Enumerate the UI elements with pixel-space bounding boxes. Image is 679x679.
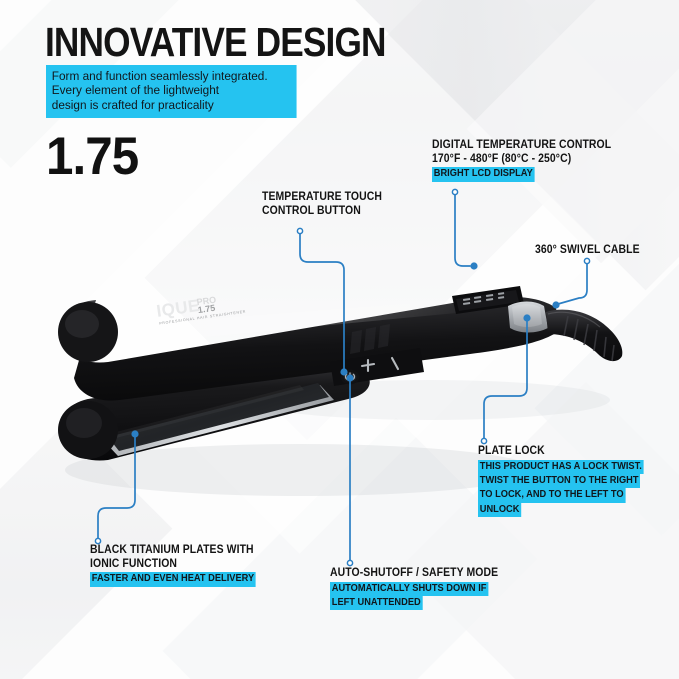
swivel-cord [546,310,622,361]
callout-plate-lock-highlight-3: TO LOCK, AND TO THE LEFT TO [478,488,625,502]
product-upper-arm: IQUE PRO 1.75 PROFESSIONAL HAIR STRAIGHT… [58,286,622,401]
plate-size-number: 1.75 [46,130,138,184]
subtitle-line-2: Every element of the lightweight [52,83,291,97]
page-title: INNOVATIVE DESIGN [45,21,386,63]
infographic-canvas: IQUE PRO 1.75 PROFESSIONAL HAIR STRAIGHT… [0,0,679,679]
callout-auto-shutoff: AUTO-SHUTOFF / SAFETY MODE AUTOMATICALLY… [330,566,517,610]
power-button [341,370,360,385]
subtitle-line-3: design is crafted for practicality [52,98,291,112]
subtitle-line-1: Form and function seamlessly integrated. [52,69,291,83]
callout-temperature-touch-heading-2: CONTROL BUTTON [262,204,382,218]
callout-digital-temperature-highlight-1: BRIGHT LCD DISPLAY [432,167,535,181]
callout-titanium-plates-heading-2: IONIC FUNCTION [90,557,256,571]
callout-plate-lock: PLATE LOCK THIS PRODUCT HAS A LOCK TWIST… [478,444,662,517]
callout-temperature-touch: TEMPERATURE TOUCH CONTROL BUTTON [262,190,395,217]
callout-plate-lock-highlight-1: THIS PRODUCT HAS A LOCK TWIST. [478,460,644,474]
callout-auto-shutoff-highlight-1: AUTOMATICALLY SHUTS DOWN IF [330,582,488,596]
callout-plate-lock-highlight-2: TWIST THE BUTTON TO THE RIGHT [478,474,640,488]
callout-digital-temperature: DIGITAL TEMPERATURE CONTROL 170°F - 480°… [432,138,631,182]
callout-temperature-touch-heading-1: TEMPERATURE TOUCH [262,190,382,204]
callout-digital-temperature-heading-2: 170°F - 480°F (80°C - 250°C) [432,152,611,166]
callout-plate-lock-heading-1: PLATE LOCK [478,444,644,458]
swivel-lock-ring [508,302,548,333]
callout-plate-lock-highlight-4: UNLOCK [478,503,521,517]
subtitle-highlight-box: Form and function seamlessly integrated.… [46,65,297,118]
callout-swivel-cable: 360° SWIVEL CABLE [535,243,651,257]
callout-titanium-plates: BLACK TITANIUM PLATES WITH IONIC FUNCTIO… [90,543,274,587]
callout-titanium-plates-highlight-1: FASTER AND EVEN HEAT DELIVERY [90,572,256,586]
callout-auto-shutoff-highlight-2: LEFT UNATTENDED [330,596,422,610]
callout-swivel-cable-heading-1: 360° SWIVEL CABLE [535,243,640,257]
callout-auto-shutoff-heading-1: AUTO-SHUTOFF / SAFETY MODE [330,566,498,580]
callout-titanium-plates-heading-1: BLACK TITANIUM PLATES WITH [90,543,256,557]
callout-digital-temperature-heading-1: DIGITAL TEMPERATURE CONTROL [432,138,611,152]
